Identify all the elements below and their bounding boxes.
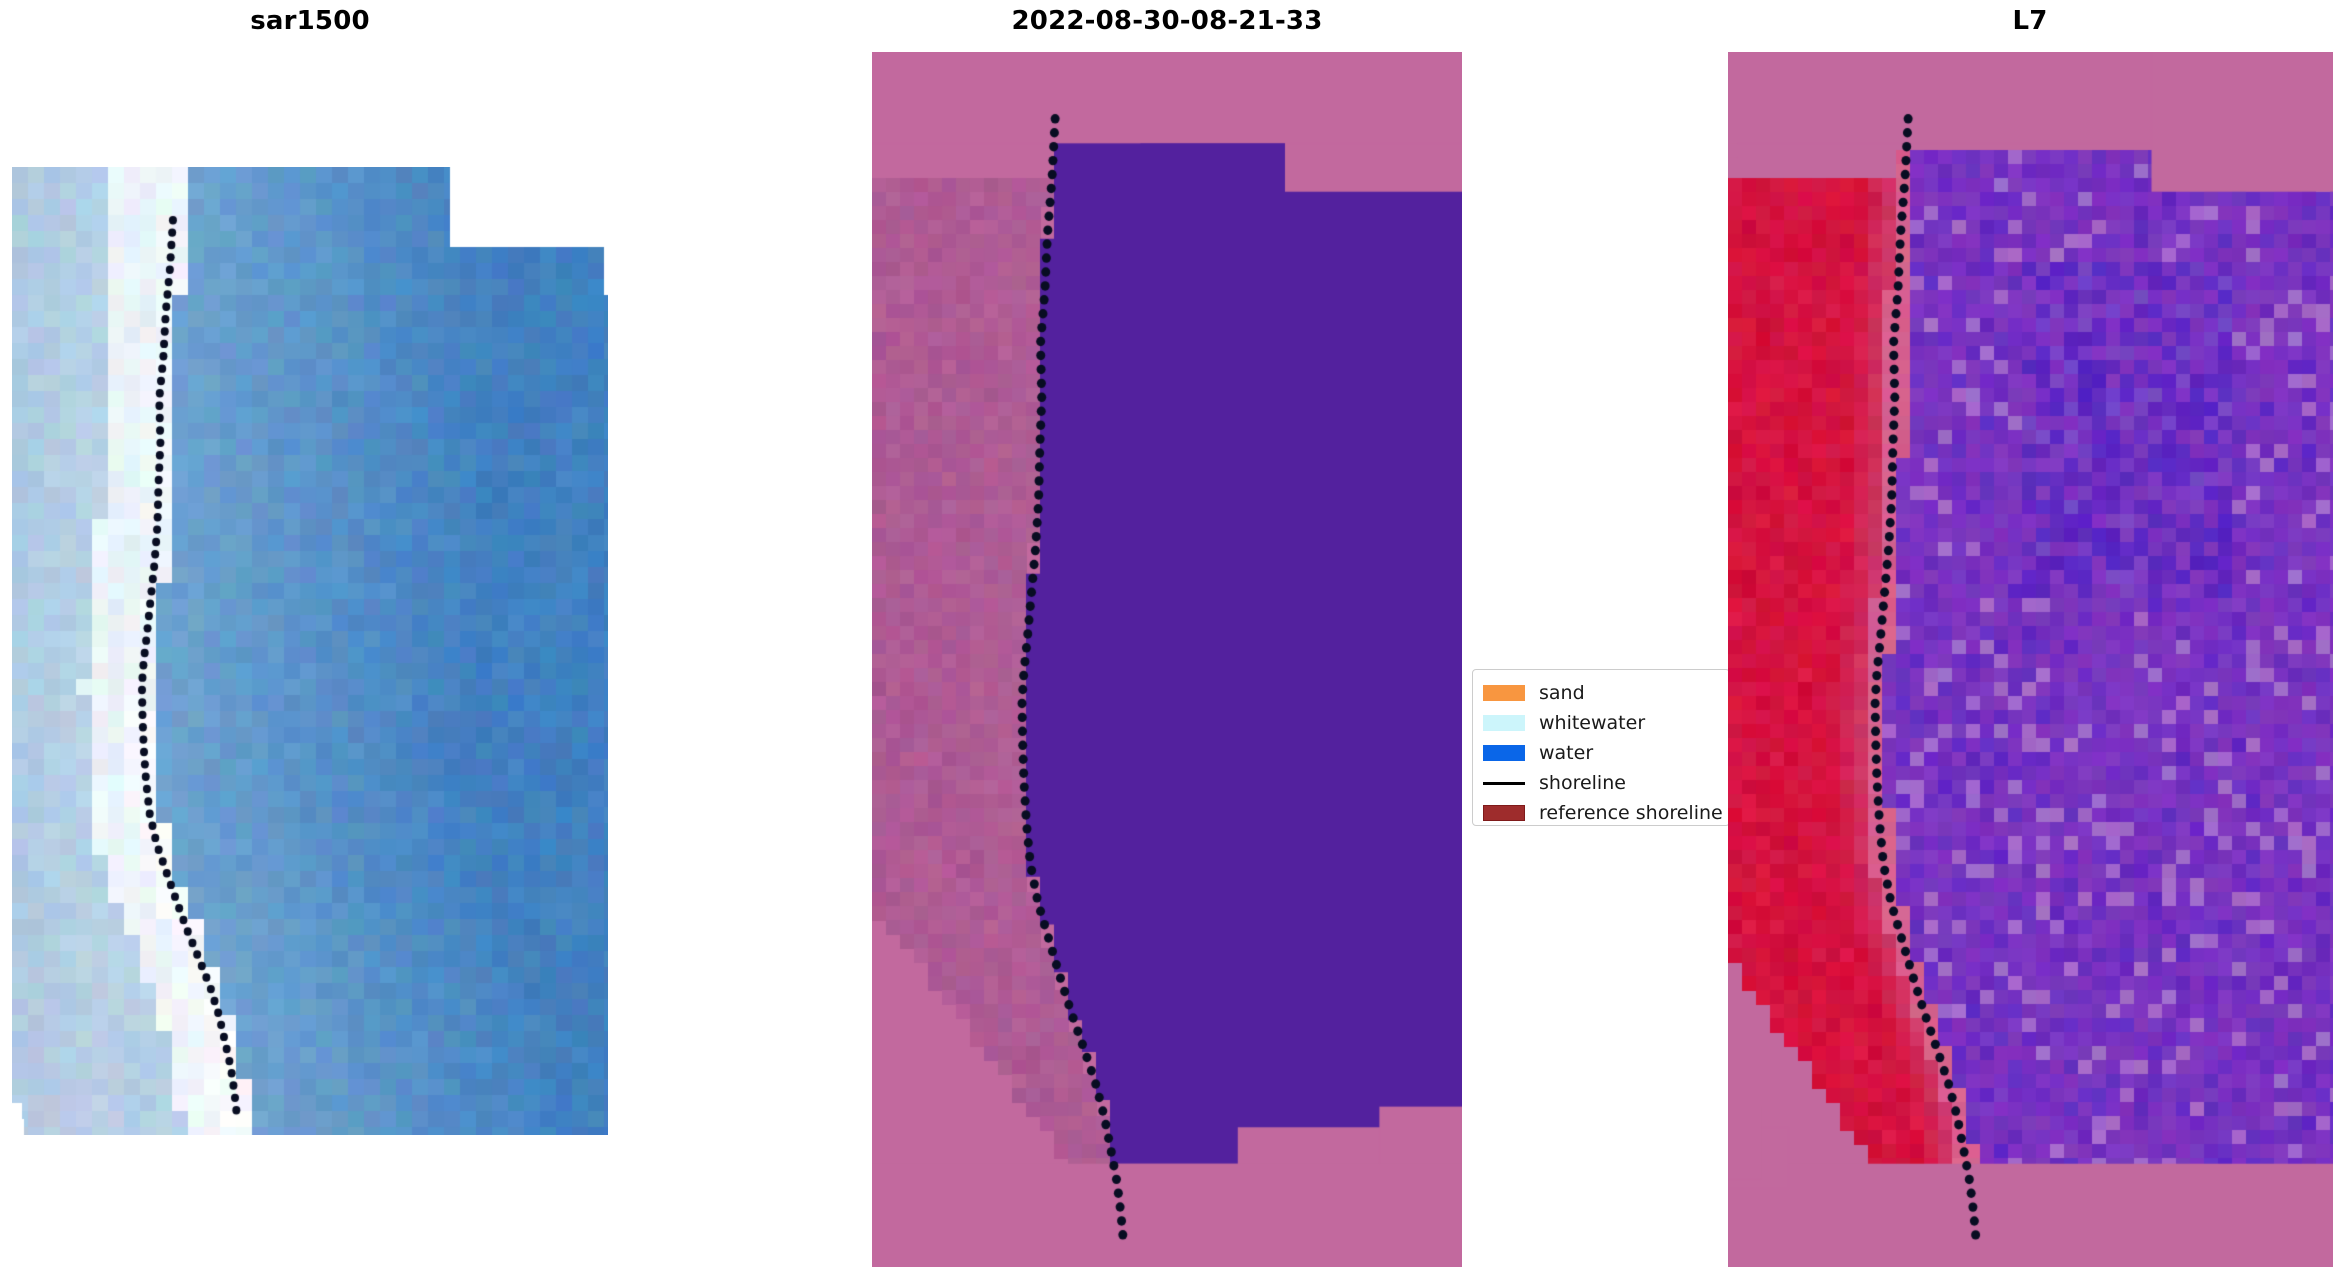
l7-raster-image	[1728, 52, 2333, 1267]
panel-title-classified: 2022-08-30-08-21-33	[867, 6, 1467, 36]
legend-label-water: water	[1539, 744, 1593, 763]
panel-sar1500[interactable]	[12, 167, 608, 1135]
legend-label-reference-shoreline: reference shoreline	[1539, 804, 1723, 823]
reference-shoreline-color-swatch	[1483, 805, 1525, 821]
classified-raster-image	[872, 52, 1462, 1267]
panel-title-l7: L7	[1730, 6, 2330, 36]
sand-color-swatch	[1483, 685, 1525, 701]
panel-title-sar: sar1500	[10, 6, 610, 36]
legend-label-sand: sand	[1539, 684, 1585, 703]
whitewater-color-swatch	[1483, 715, 1525, 731]
water-color-swatch	[1483, 745, 1525, 761]
legend-item-water[interactable]: water	[1483, 738, 1719, 768]
panel-l7[interactable]	[1728, 52, 2333, 1267]
legend-item-sand[interactable]: sand	[1483, 678, 1719, 708]
legend-label-whitewater: whitewater	[1539, 714, 1645, 733]
legend-box[interactable]: sand whitewater water shoreline referenc…	[1472, 669, 1730, 826]
legend-item-reference-shoreline[interactable]: reference shoreline	[1483, 798, 1719, 828]
legend-item-whitewater[interactable]: whitewater	[1483, 708, 1719, 738]
legend-label-shoreline: shoreline	[1539, 774, 1626, 793]
figure-canvas: sar1500 2022-08-30-08-21-33 sand whitewa…	[0, 0, 2333, 1283]
legend-item-shoreline[interactable]: shoreline	[1483, 768, 1719, 798]
sar-raster-image	[12, 167, 608, 1135]
panel-classified[interactable]	[872, 52, 1462, 1267]
shoreline-line-swatch	[1483, 782, 1525, 785]
